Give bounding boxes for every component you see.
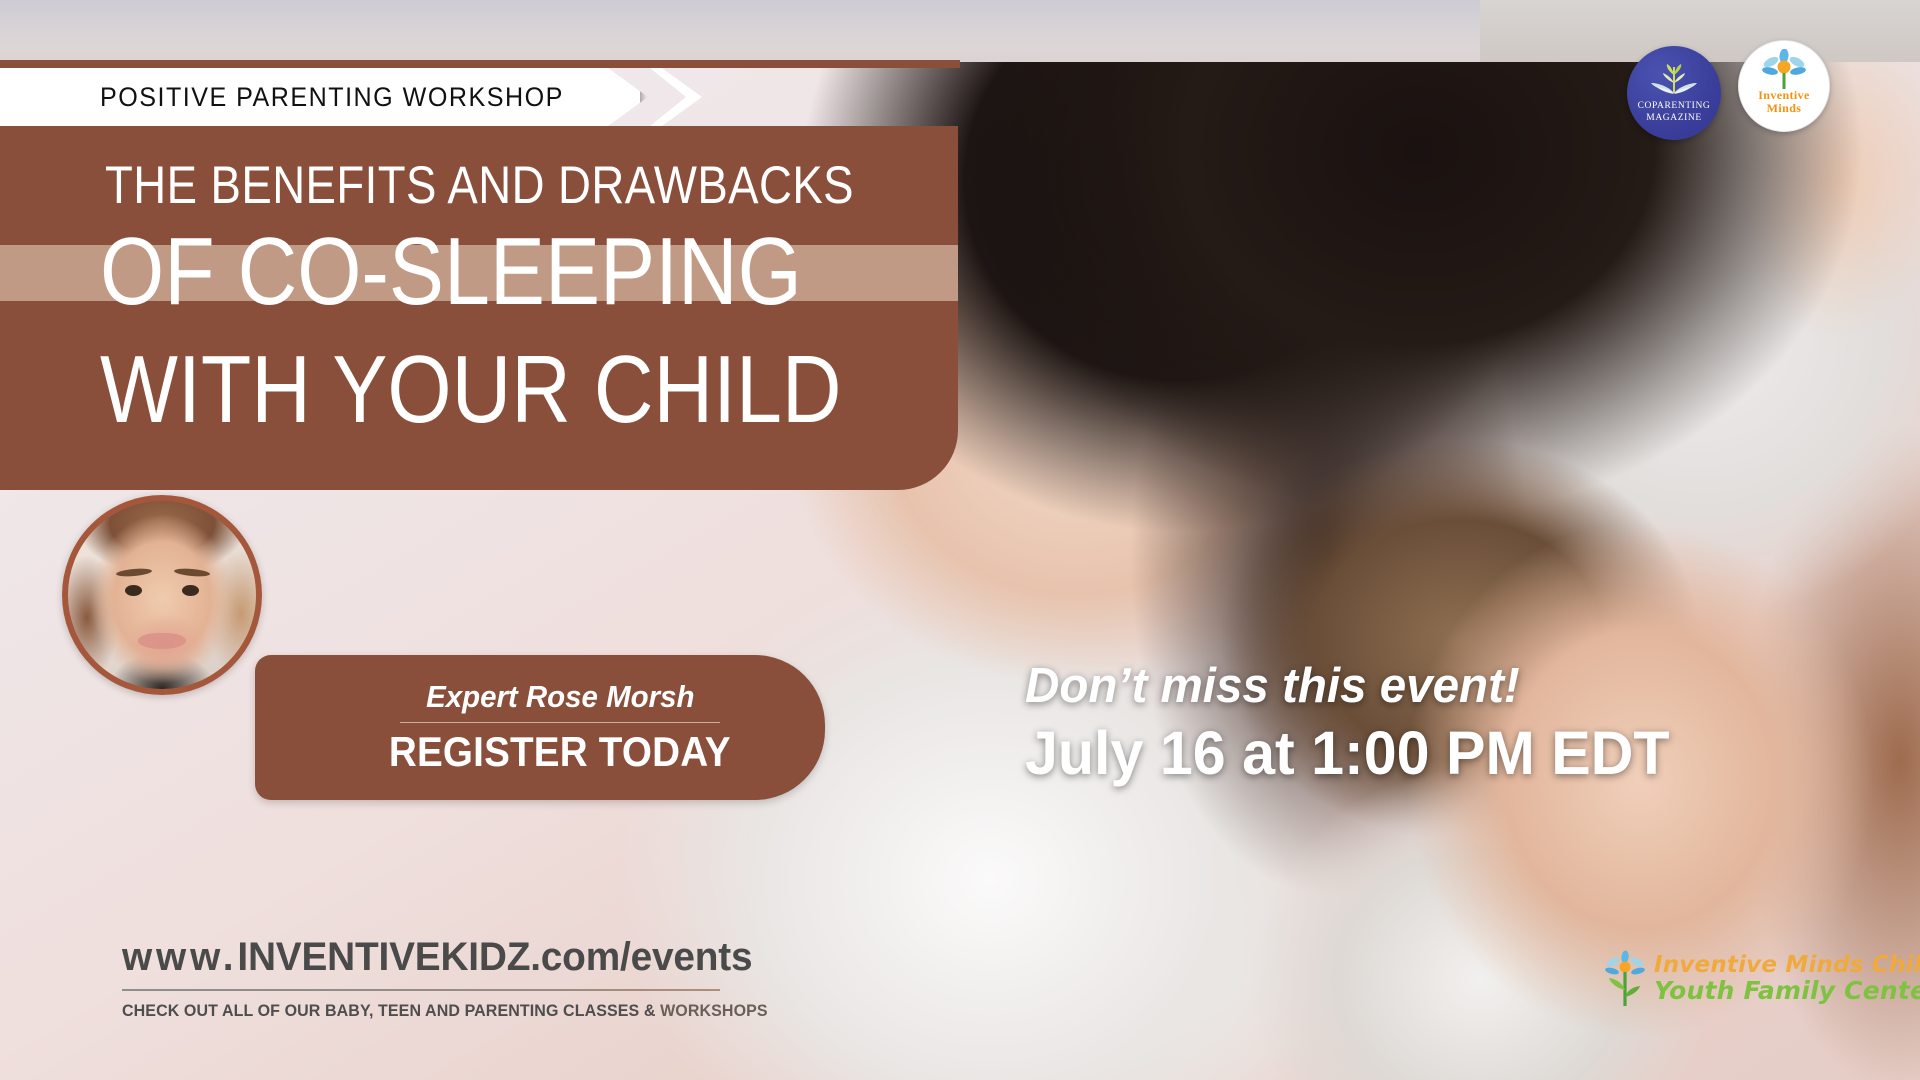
logo-inventive-line1: Inventive bbox=[1758, 89, 1810, 102]
logo-inventive-line2: Minds bbox=[1767, 102, 1802, 115]
kicker-banner-bar: POSITIVE PARENTING WORKSHOP bbox=[0, 68, 640, 126]
logo-inventive-minds[interactable]: Inventive Minds bbox=[1738, 40, 1830, 132]
avatar-brow-left bbox=[116, 567, 152, 577]
website-url[interactable]: www.INVENTIVEKIDZ.com/events bbox=[122, 935, 743, 980]
plant-sprout-icon bbox=[1649, 63, 1699, 101]
event-poster: POSITIVE PARENTING WORKSHOP THE BENEFITS… bbox=[0, 0, 1920, 1080]
logo-coparenting-magazine[interactable]: COPARENTING MAGAZINE bbox=[1627, 46, 1721, 140]
avatar-eye-left bbox=[125, 585, 142, 596]
logo-coparenting-line2: MAGAZINE bbox=[1646, 113, 1701, 125]
daisy-flower-icon bbox=[1758, 49, 1810, 89]
event-details: Don’t miss this event! July 16 at 1:00 P… bbox=[1025, 660, 1765, 786]
footer-brand-logo[interactable]: Inventive Minds Child Youth Family Cente… bbox=[1602, 950, 1920, 1008]
daisy-flower-icon bbox=[1602, 950, 1648, 1008]
register-today-button-label: REGISTER TODAY bbox=[389, 728, 731, 776]
avatar-eye-right bbox=[182, 585, 199, 596]
band-top-rule bbox=[0, 60, 960, 68]
headline-band-3 bbox=[0, 301, 958, 490]
chevron-right-icon bbox=[650, 68, 708, 126]
footer-brand-line2: Youth Family Center bbox=[1654, 978, 1920, 1004]
register-cta-pill[interactable]: Expert Rose Morsh REGISTER TODAY bbox=[255, 655, 825, 800]
speaker-name: Expert Rose Morsh bbox=[426, 679, 694, 715]
avatar-brow-right bbox=[174, 567, 210, 577]
footer-tagline-main: CHECK OUT ALL OF OUR BABY, TEEN AND PARE… bbox=[122, 1002, 660, 1020]
headline-band-2 bbox=[0, 245, 958, 301]
avatar-lips bbox=[138, 633, 186, 649]
cta-divider bbox=[400, 722, 720, 723]
speaker-avatar bbox=[62, 495, 262, 695]
url-rest: INVENTIVEKIDZ.com/events bbox=[237, 935, 752, 979]
footer-brand-text: Inventive Minds Child Youth Family Cente… bbox=[1654, 954, 1920, 1004]
headline-band-1: THE BENEFITS AND DRAWBACKS bbox=[0, 126, 958, 245]
footer-brand-line1: Inventive Minds Child bbox=[1654, 954, 1920, 977]
footer-tagline: CHECK OUT ALL OF OUR BABY, TEEN AND PARE… bbox=[122, 1002, 743, 1021]
event-datetime: July 16 at 1:00 PM EDT bbox=[1025, 721, 1743, 786]
headline-line-1: THE BENEFITS AND DRAWBACKS bbox=[105, 155, 854, 216]
url-prefix: www. bbox=[122, 935, 237, 979]
event-hook-text: Don’t miss this event! bbox=[1025, 660, 1743, 713]
kicker-banner: POSITIVE PARENTING WORKSHOP bbox=[0, 68, 700, 126]
url-divider bbox=[122, 989, 720, 991]
footer-tagline-fade: WORKSHOPS bbox=[660, 1002, 768, 1020]
top-background-strip-photo bbox=[1480, 0, 1920, 62]
kicker-label: POSITIVE PARENTING WORKSHOP bbox=[100, 82, 564, 113]
footer-url-block: www.INVENTIVEKIDZ.com/events CHECK OUT A… bbox=[122, 935, 762, 1021]
logo-coparenting-line1: COPARENTING bbox=[1638, 101, 1711, 113]
